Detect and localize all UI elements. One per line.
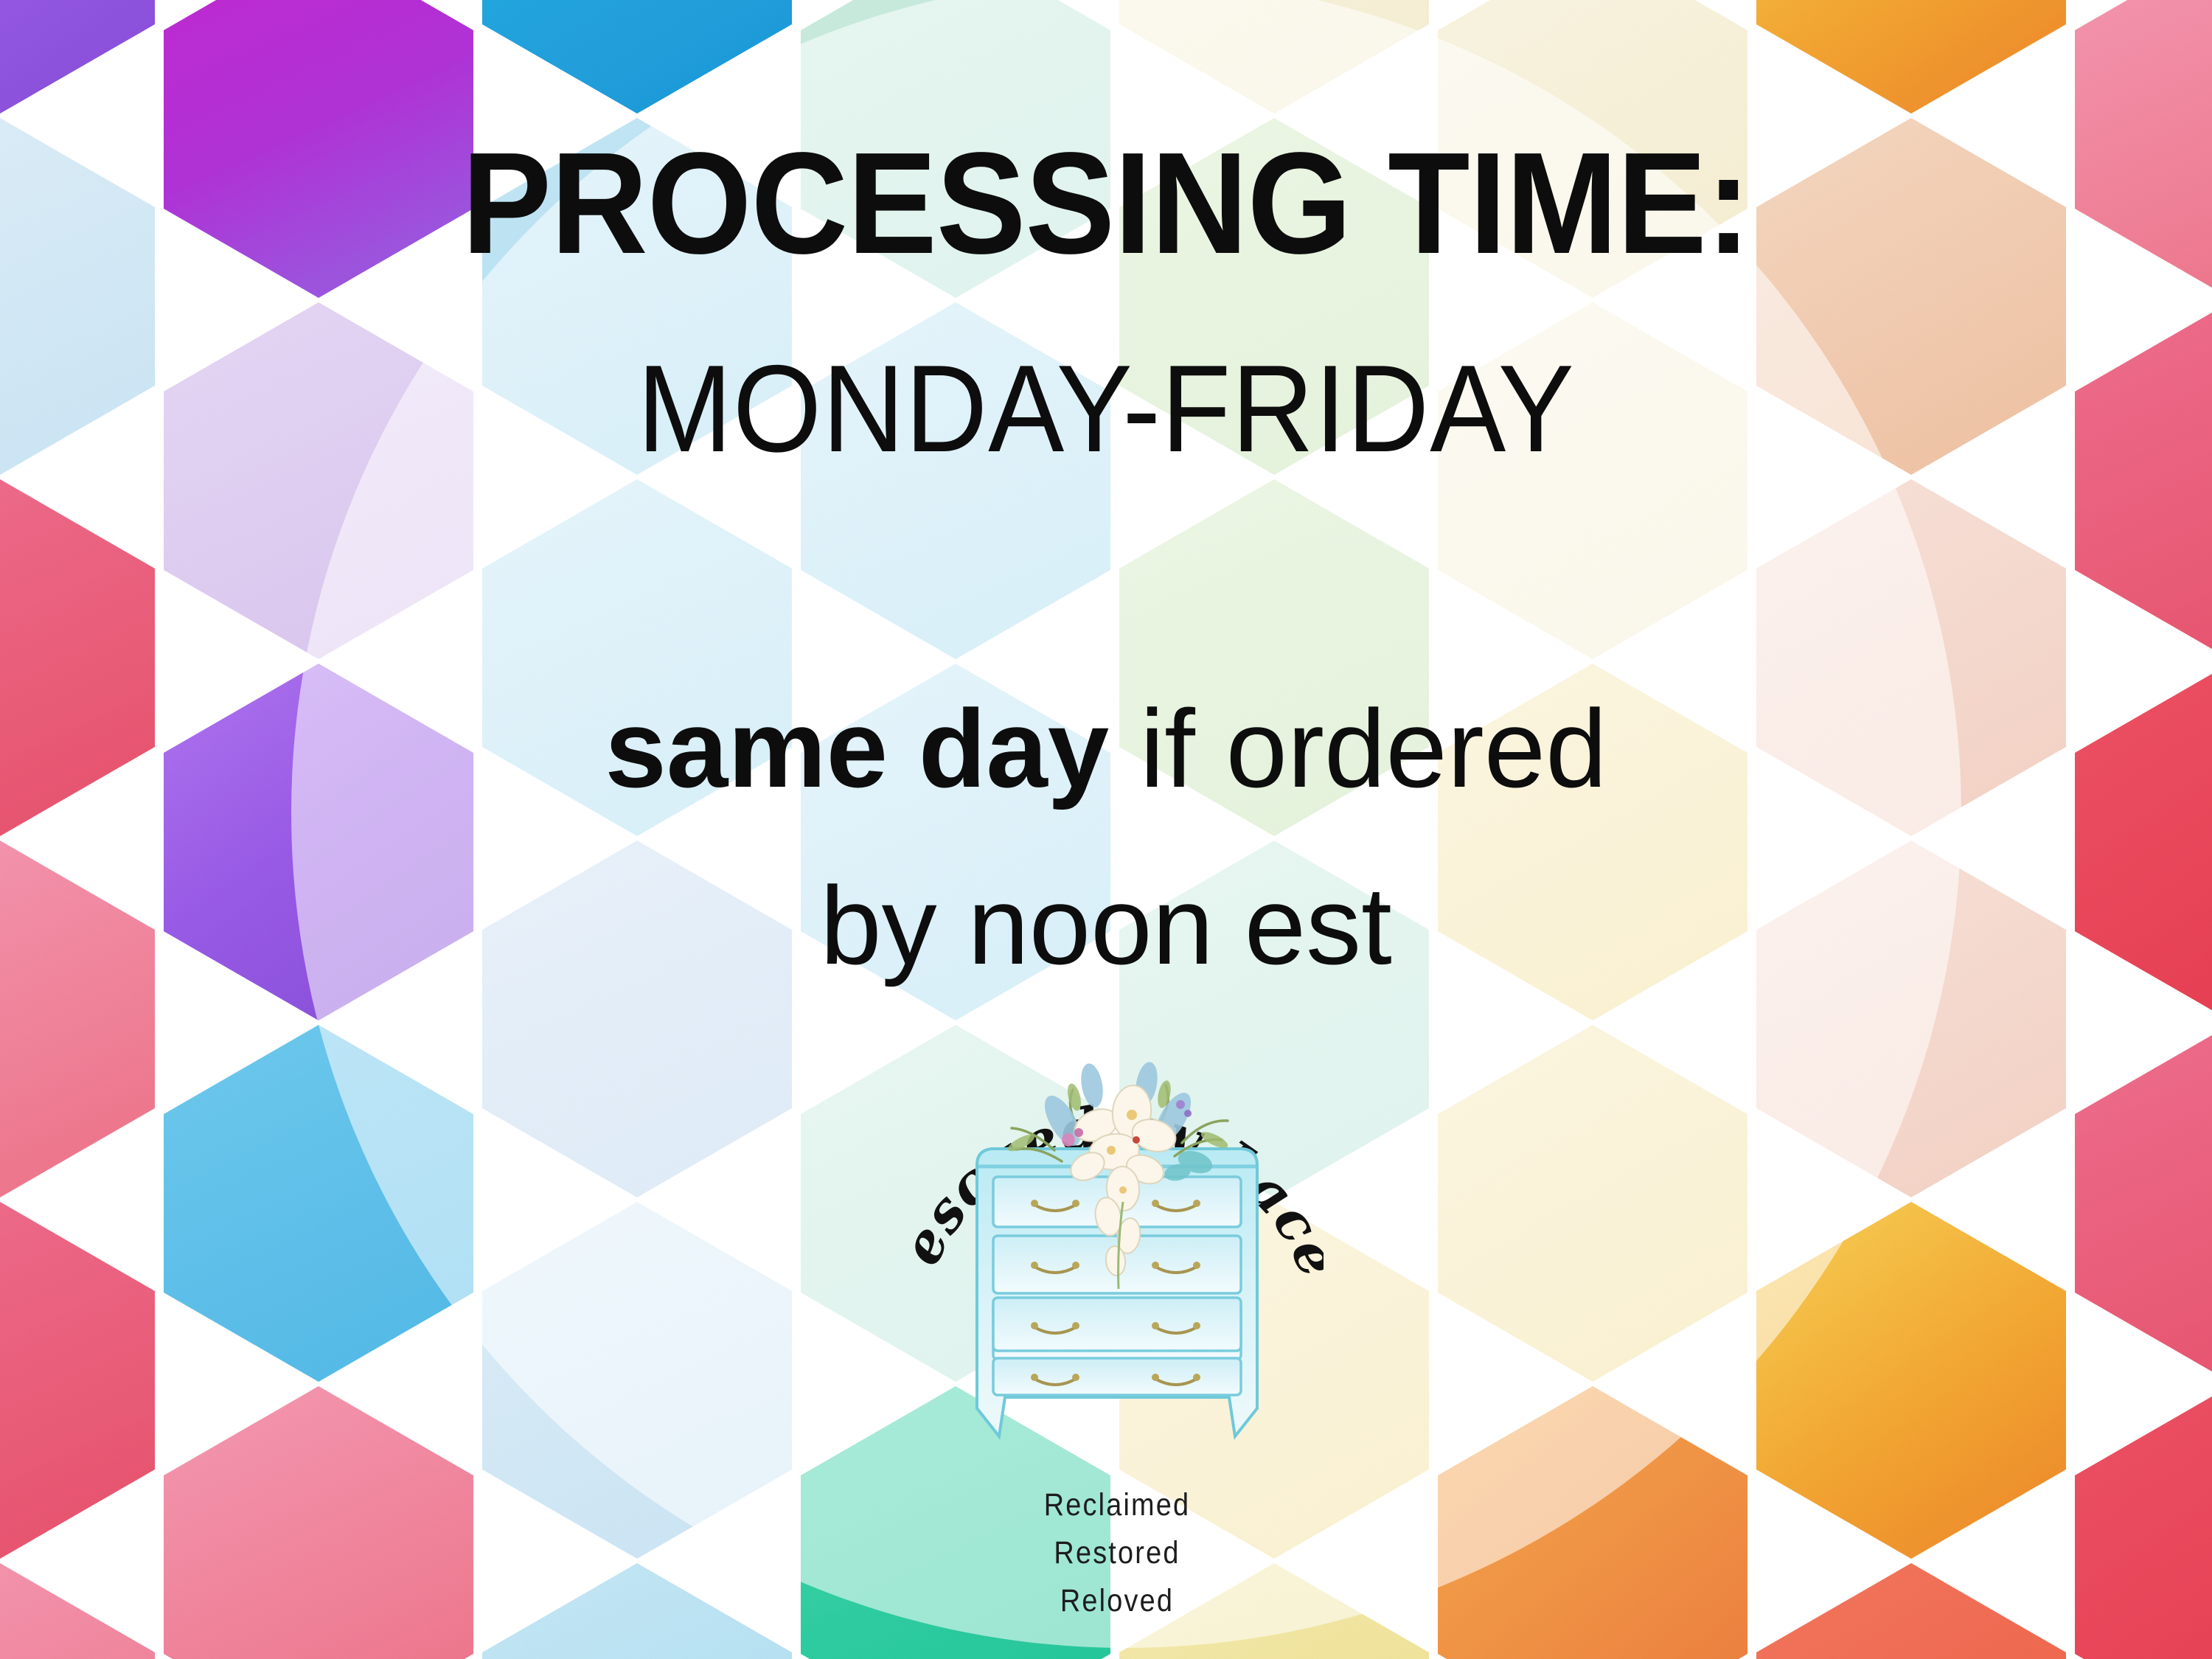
hexagon-background (0, 0, 2212, 1659)
poster-canvas: PROCESSING TIME: MONDAY-FRIDAY same day … (0, 0, 2212, 1659)
